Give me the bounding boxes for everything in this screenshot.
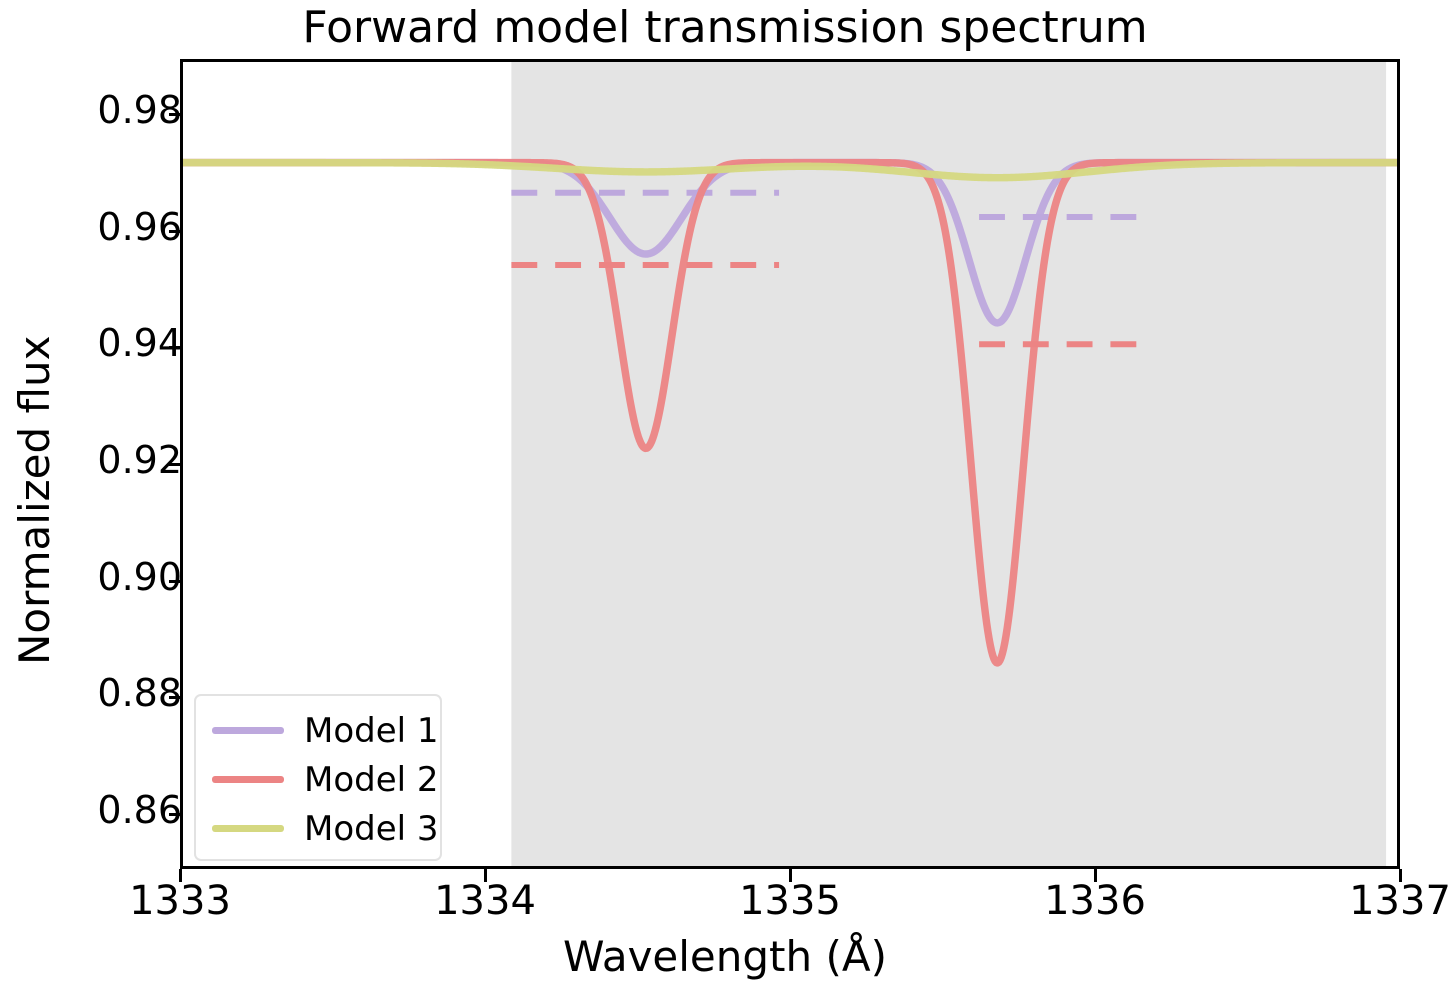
shaded-bands-group: [511, 62, 1386, 866]
legend-item-1[interactable]: Model 1: [196, 706, 440, 755]
y-tick-label: 0.88: [32, 671, 182, 715]
x-tick-mark: [179, 869, 182, 882]
x-tick-label: 1333: [80, 878, 280, 924]
y-tick-label: 0.94: [32, 321, 182, 365]
x-axis-label: Wavelength (Å): [0, 932, 1450, 981]
figure-root: Forward model transmission spectrum Norm…: [0, 0, 1450, 1007]
y-tick-label: 0.98: [32, 88, 182, 132]
chart-legend[interactable]: Model 1Model 2Model 3: [194, 694, 442, 861]
y-tick-label: 0.86: [32, 788, 182, 832]
chart-title: Forward model transmission spectrum: [0, 2, 1450, 53]
x-tick-label: 1334: [385, 878, 585, 924]
x-tick-mark: [1094, 869, 1097, 882]
y-axis-label: Normalized flux: [10, 336, 59, 665]
legend-color-swatch: [212, 727, 284, 734]
legend-item-label: Model 3: [304, 812, 439, 846]
legend-color-swatch: [212, 825, 284, 832]
legend-item-3[interactable]: Model 3: [196, 804, 440, 853]
x-tick-mark: [1399, 869, 1402, 882]
x-tick-mark: [484, 869, 487, 882]
y-tick-label: 0.90: [32, 555, 182, 599]
y-tick-label: 0.96: [32, 205, 182, 249]
x-tick-mark: [789, 869, 792, 882]
shaded-band: [511, 62, 1386, 866]
legend-item-label: Model 2: [304, 763, 439, 797]
x-tick-label: 1336: [995, 878, 1195, 924]
x-tick-label: 1335: [690, 878, 890, 924]
legend-item-label: Model 1: [304, 714, 439, 748]
legend-color-swatch: [212, 776, 284, 783]
legend-item-2[interactable]: Model 2: [196, 755, 440, 804]
x-tick-label: 1337: [1300, 878, 1450, 924]
y-tick-label: 0.92: [32, 438, 182, 482]
